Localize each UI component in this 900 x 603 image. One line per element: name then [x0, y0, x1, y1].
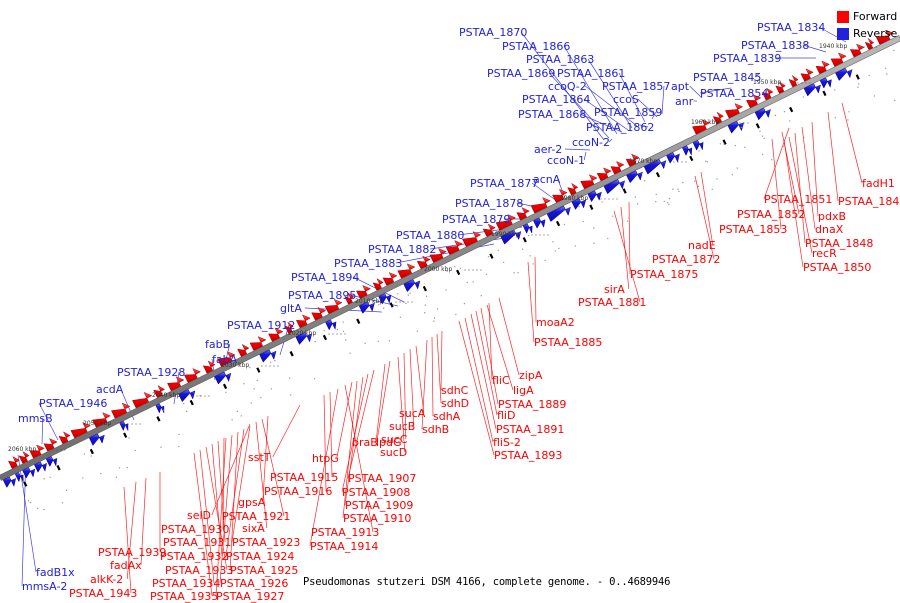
gene-label: PSTAA_1907: [348, 473, 416, 484]
gene-label: PSTAA_1933: [165, 565, 233, 576]
gene-label: mmsA-2: [22, 581, 67, 592]
gene-label: braB: [352, 437, 378, 448]
gene-label: mmsB: [18, 413, 53, 424]
gene-label: fadAx: [110, 560, 142, 571]
gene-label: PSTAA_1910: [343, 513, 411, 524]
legend-swatch-forward: [837, 11, 849, 23]
gene-label: PSTAA_1862: [586, 122, 654, 133]
gene-label: PSTAA_1877: [470, 178, 538, 189]
gene-label: ligA: [513, 385, 534, 396]
gene-label: PSTAA_1838: [741, 40, 809, 51]
gene-label: sdhB: [422, 424, 449, 435]
gene-label: acdA: [96, 384, 123, 395]
scale-tick-label: 1950 kbp: [753, 80, 781, 86]
gene-label: PSTAA_1916: [264, 486, 332, 497]
legend-label-forward: Forward: [853, 10, 897, 23]
scale-tick-label: 1940 kbp: [819, 44, 847, 50]
gene-label: PSTAA_1881: [578, 297, 646, 308]
gene-label: ccoN-1: [547, 155, 585, 166]
gene-label: PSTAA_1924: [226, 551, 294, 562]
gene-label: PSTAA_1834: [757, 22, 825, 33]
gene-label: dnaX: [815, 224, 843, 235]
gene-label: ccoS: [613, 94, 639, 105]
gene-label: sstT: [248, 452, 271, 463]
gene-label: PSTAA_1926: [220, 578, 288, 589]
gene-label: PSTAA_1893: [494, 450, 562, 461]
gene-label: PSTAA_1914: [310, 541, 378, 552]
gene-label: alkK-2: [90, 574, 123, 585]
gene-label: PSTAA_1866: [502, 41, 570, 52]
gene-label: PSTAA_1912: [227, 320, 295, 331]
gene-label: PSTAA_1880: [396, 230, 464, 241]
gene-label: ccoQ-2: [548, 81, 587, 92]
gene-label: PSTAA_1923: [232, 537, 300, 548]
scale-tick-label: 1990 kbp: [491, 232, 519, 238]
legend-label-reverse: Reverse: [853, 27, 897, 40]
gene-label: PSTAA_1928: [117, 367, 185, 378]
gene-label: sdhD: [441, 398, 469, 409]
gene-label: sdhA: [433, 411, 460, 422]
scale-tick-label: 2040 kbp: [152, 393, 180, 399]
gene-label: fabB: [205, 339, 230, 350]
gene-label: PSTAA_1883: [334, 258, 402, 269]
scale-tick-label: 2030 kbp: [221, 363, 249, 369]
gene-label: gpsA: [238, 497, 265, 508]
gene-label: PSTAA_1857: [602, 81, 670, 92]
scale-tick-label: 2050 kbp: [83, 421, 111, 427]
gene-label: fadB1x: [36, 567, 75, 578]
gene-label: PSTAA_1863: [526, 54, 594, 65]
gene-label: PSTAA_1875: [630, 269, 698, 280]
gene-label: PSTAA_1946: [39, 398, 107, 409]
gene-label: PSTAA_1925: [230, 565, 298, 576]
scale-tick-label: 2000 kbp: [424, 267, 452, 273]
gene-label: PSTAA_1934: [152, 578, 220, 589]
legend: Forward Reverse: [837, 10, 899, 44]
gene-label: pdxB: [818, 211, 846, 222]
gene-label: sucA: [399, 408, 425, 419]
gene-label: sucB: [389, 421, 415, 432]
gene-label: selD: [187, 510, 211, 521]
gene-label: PSTAA_1878: [455, 198, 523, 209]
gene-label: anr: [675, 96, 693, 107]
gene-label: sirA: [604, 284, 625, 295]
gene-label: PSTAA_1868: [518, 109, 586, 120]
gene-label: PSTAA_1921: [222, 511, 290, 522]
legend-swatch-reverse: [837, 28, 849, 40]
gene-label: htpG: [312, 453, 339, 464]
gene-label: gltA: [280, 303, 302, 314]
gene-label: PSTAA_1861: [557, 68, 625, 79]
gene-label: recR: [812, 248, 837, 259]
gene-label: PSTAA_1845: [693, 72, 761, 83]
gene-label: PSTAA_1894: [291, 272, 359, 283]
gene-label: fadH1: [862, 178, 895, 189]
gene-label: PSTAA_1872: [652, 254, 720, 265]
gene-label: ccoN-2: [572, 137, 610, 148]
scale-tick-label: 2010 kbp: [355, 299, 383, 305]
gene-label: PSTAA_1915: [270, 472, 338, 483]
gene-label: PSTAA_1864: [522, 94, 590, 105]
genome-caption: Pseudomonas stutzeri DSM 4166, complete …: [303, 576, 670, 588]
gene-label: zipA: [519, 370, 542, 381]
gene-label: PSTAA_1932: [160, 551, 228, 562]
genome-map-canvas: PSTAA_1870PSTAA_1866PSTAA_1863PSTAA_1869…: [0, 0, 900, 600]
gene-label: PSTAA_1891: [496, 424, 564, 435]
gene-label: PSTAA_1839: [713, 53, 781, 64]
gene-label: PSTAA_1939: [98, 547, 166, 558]
gene-label: PSTAA_1927: [216, 591, 284, 602]
gene-label: PSTAA_1851: [764, 194, 832, 205]
gene-label: PSTAA_1869: [487, 68, 555, 79]
gene-label: PSTAA_1930: [161, 524, 229, 535]
gene-label: PSTAA_1935: [150, 591, 218, 602]
gene-label: fliD: [497, 410, 515, 421]
gene-label: PSTAA_1854: [700, 88, 768, 99]
gene-label: PSTAA_1895: [288, 290, 356, 301]
gene-label: PSTAA_1853: [719, 224, 787, 235]
gene-label: apt: [671, 81, 689, 92]
gene-label: PSTAA_1885: [534, 337, 602, 348]
scale-tick-label: 1960 kbp: [691, 120, 719, 126]
gene-label: PSTAA_1931: [163, 537, 231, 548]
gene-label: lpdG: [376, 437, 402, 448]
gene-label: PSTAA_1943: [69, 588, 137, 599]
gene-label: fliS-2: [493, 437, 521, 448]
gene-label: nadE: [688, 240, 716, 251]
scale-tick-label: 2020 kbp: [288, 331, 316, 337]
gene-label: PSTAA_1852: [737, 209, 805, 220]
gene-label: PSTAA_1909: [345, 500, 413, 511]
gene-label: PSTAA_1870: [459, 27, 527, 38]
scale-tick-label: 2060 kbp: [8, 447, 36, 453]
gene-label: sixA: [242, 523, 265, 534]
gene-label: fliC: [492, 375, 510, 386]
scale-tick-label: 1980 kbp: [560, 196, 588, 202]
gene-label: sdhC: [441, 385, 468, 396]
gene-label: PSTAA_1879: [442, 214, 510, 225]
gene-label: PSTAA_1859: [594, 107, 662, 118]
scale-tick-label: 1970 kbp: [629, 159, 657, 165]
gene-label: PSTAA_1908: [342, 487, 410, 498]
gene-label: PSTAA_1882: [368, 244, 436, 255]
gene-label: PSTAA_1850: [803, 262, 871, 273]
gene-label: PSTAA_1913: [311, 527, 379, 538]
gene-label: PSTAA_1844: [838, 196, 900, 207]
gene-label: moaA2: [536, 317, 575, 328]
gene-label: acnA: [533, 174, 560, 185]
